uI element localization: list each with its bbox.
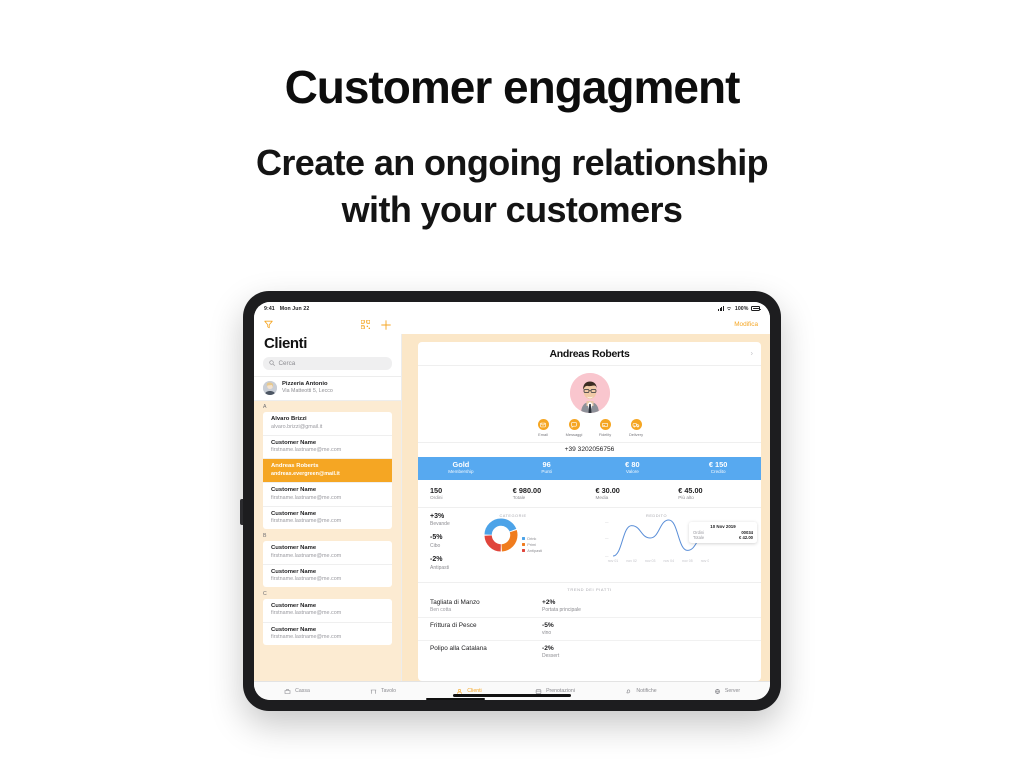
trend-pct: -2% bbox=[542, 645, 749, 653]
list-item[interactable]: Customer Namefirstname.lastname@me.com bbox=[263, 507, 392, 530]
customer-row-name: Customer Name bbox=[271, 545, 384, 553]
delta-cell: -5%Cibo bbox=[430, 534, 470, 549]
delta-label: Bevande bbox=[430, 521, 470, 527]
action-label: Messaggi bbox=[564, 432, 584, 437]
plus-icon[interactable] bbox=[381, 320, 391, 330]
customer-row-name: Customer Name bbox=[271, 603, 384, 611]
customer-group: Alvaro Brizzialvaro.brizzi@gmail.itCusto… bbox=[263, 412, 392, 529]
active-tab-underline bbox=[426, 698, 485, 700]
customer-card: Andreas Roberts › bbox=[418, 342, 761, 681]
tooltip-total-row: Totale € 42.00 bbox=[693, 535, 753, 540]
tab-server[interactable]: Server bbox=[684, 688, 770, 695]
customer-group: Customer Namefirstname.lastname@me.comCu… bbox=[263, 541, 392, 587]
customer-stats-row: 150Ordini€ 980.00Totale€ 30.00Media€ 45.… bbox=[418, 480, 761, 508]
customer-row-email: firstname.lastname@me.com bbox=[271, 610, 384, 617]
pinned-venue-name: Pizzeria Antonio bbox=[282, 381, 333, 388]
stat-label: Totale bbox=[513, 495, 596, 501]
search-icon bbox=[269, 360, 275, 366]
categories-donut-chart: CATEGORIE DrinkPrimiAntipasti bbox=[470, 513, 556, 578]
action-email[interactable]: Email bbox=[533, 419, 553, 437]
customer-group: Customer Namefirstname.lastname@me.comCu… bbox=[263, 599, 392, 645]
filter-icon[interactable] bbox=[264, 320, 273, 329]
sidebar-title: Clienti bbox=[254, 334, 401, 357]
trend-dish-name: Frittura di Pesce bbox=[430, 622, 542, 630]
membership-cell: 96Punti bbox=[504, 461, 590, 475]
customer-sidebar: Clienti Cerca Pizzeria Antonio bbox=[254, 334, 402, 681]
customer-row-name: Customer Name bbox=[271, 511, 384, 519]
customer-row-email: firstname.lastname@me.com bbox=[271, 495, 384, 502]
ipad-device-frame: 9:41 Mon Jun 22 100% bbox=[243, 291, 781, 711]
status-time: 9:41 bbox=[264, 306, 275, 312]
donut-legend: DrinkPrimiAntipasti bbox=[522, 535, 542, 553]
tooltip-total-label: Totale bbox=[693, 535, 704, 540]
list-item[interactable]: Customer Namefirstname.lastname@me.com bbox=[263, 565, 392, 588]
x-tick: nov 01 bbox=[608, 559, 619, 563]
membership-cell: € 150Credito bbox=[675, 461, 761, 475]
tab-notifiche[interactable]: Notifiche bbox=[598, 688, 684, 695]
legend-swatch bbox=[522, 549, 525, 552]
customer-row-email: firstname.lastname@me.com bbox=[271, 553, 384, 560]
list-item[interactable]: Customer Namefirstname.lastname@me.com bbox=[263, 623, 392, 646]
x-tick: nov 06 bbox=[701, 559, 709, 563]
customer-avatar bbox=[570, 373, 610, 413]
analytics-zone: +3%Bevande-5%Cibo-2%Antipasti CATEGORIE … bbox=[418, 508, 761, 582]
dish-trend-section: TREND DEI PIATTI Tagliata di ManzoBen co… bbox=[418, 582, 761, 681]
cash-register-icon bbox=[284, 688, 291, 695]
customer-actions: EmailMessaggiFidelityDelivery bbox=[418, 419, 761, 437]
customer-row-name: Customer Name bbox=[271, 627, 384, 635]
stat-label: Ordini bbox=[430, 495, 513, 501]
app-toolbar: Modifica bbox=[254, 315, 770, 334]
delta-value: -5% bbox=[430, 534, 470, 543]
status-bar: 9:41 Mon Jun 22 100% bbox=[254, 302, 770, 315]
trend-pct: +2% bbox=[542, 599, 749, 607]
trend-course: vino bbox=[542, 630, 749, 636]
stat-cell: € 980.00Totale bbox=[513, 486, 596, 501]
customer-detail-panel: Andreas Roberts › bbox=[402, 334, 770, 681]
tab-tavolo[interactable]: Tavolo bbox=[340, 688, 426, 695]
trend-metric: +2%Portata principale bbox=[542, 599, 749, 613]
trend-dish: Polipo alla Catalana bbox=[430, 645, 542, 659]
action-messaggi[interactable]: Messaggi bbox=[564, 419, 584, 437]
qr-code-icon[interactable] bbox=[361, 320, 370, 329]
pinned-venue-address: Via Matteotti 5, Lecco bbox=[282, 388, 333, 395]
donut-svg bbox=[484, 518, 518, 552]
stat-label: Media bbox=[596, 495, 679, 501]
search-placeholder: Cerca bbox=[279, 360, 296, 367]
bell-icon bbox=[625, 688, 632, 695]
status-bar-left: 9:41 Mon Jun 22 bbox=[264, 306, 309, 312]
search-input[interactable]: Cerca bbox=[263, 357, 392, 370]
table-icon bbox=[370, 688, 377, 695]
membership-bar: GoldMembership96Punti€ 80Valore€ 150Cred… bbox=[418, 457, 761, 480]
trend-pct: -5% bbox=[542, 622, 749, 630]
marketing-headings: Customer engagment Create an ongoing rel… bbox=[0, 0, 1024, 234]
globe-icon bbox=[714, 688, 721, 695]
action-delivery[interactable]: Delivery bbox=[626, 419, 646, 437]
tab-label: Cassa bbox=[295, 688, 310, 694]
delta-cell: -2%Antipasti bbox=[430, 556, 470, 571]
stat-cell: € 30.00Media bbox=[596, 486, 679, 501]
customer-row-name: Customer Name bbox=[271, 440, 384, 448]
customer-row-email: firstname.lastname@me.com bbox=[271, 518, 384, 525]
customer-row-email: firstname.lastname@me.com bbox=[271, 634, 384, 641]
list-item[interactable]: Customer Namefirstname.lastname@me.com bbox=[263, 436, 392, 460]
trend-dish-note: Ben cotta bbox=[430, 607, 542, 613]
battery-icon bbox=[751, 306, 760, 310]
section-letter: B bbox=[254, 529, 401, 541]
stat-value: € 30.00 bbox=[596, 486, 679, 495]
trend-dish: Frittura di Pesce bbox=[430, 622, 542, 636]
customer-row-email: alvaro.brizzi@gmail.it bbox=[271, 424, 384, 431]
x-tick: nov 04 bbox=[664, 559, 675, 563]
y-tick: — bbox=[605, 536, 609, 540]
customer-row-email: firstname.lastname@me.com bbox=[271, 576, 384, 583]
tab-label: Tavolo bbox=[381, 688, 396, 694]
main-split-view: Clienti Cerca Pizzeria Antonio bbox=[254, 334, 770, 681]
trend-course: Dessert bbox=[542, 653, 749, 659]
subtitle-line-1: Create an ongoing relationship bbox=[0, 139, 1024, 187]
card-icon bbox=[600, 419, 611, 430]
membership-value: Gold bbox=[418, 461, 504, 470]
stat-label: Più alto bbox=[678, 495, 761, 501]
trend-dish: Tagliata di ManzoBen cotta bbox=[430, 599, 542, 613]
home-indicator bbox=[453, 694, 571, 697]
status-bar-right: 100% bbox=[718, 306, 760, 312]
delta-label: Cibo bbox=[430, 543, 470, 549]
ipad-screen: 9:41 Mon Jun 22 100% bbox=[254, 302, 770, 700]
delta-value: -2% bbox=[430, 556, 470, 565]
stat-value: € 980.00 bbox=[513, 486, 596, 495]
trend-caption: TREND DEI PIATTI bbox=[418, 587, 761, 592]
tooltip-date: 10 Nov 2019 bbox=[693, 524, 753, 529]
legend-label: Drink bbox=[527, 536, 536, 541]
customer-row-email: andreas.evergreen@mail.it bbox=[271, 471, 384, 478]
page-subtitle: Create an ongoing relationship with your… bbox=[0, 139, 1024, 234]
delivery-icon bbox=[631, 419, 642, 430]
list-item[interactable]: Andreas Robertsandreas.evergreen@mail.it bbox=[263, 459, 392, 483]
customer-name: Andreas Roberts bbox=[418, 348, 761, 360]
y-tick: — bbox=[605, 554, 609, 558]
trend-metric: -5%vino bbox=[542, 622, 749, 636]
category-deltas: +3%Bevande-5%Cibo-2%Antipasti bbox=[418, 513, 470, 578]
pinned-venue-row[interactable]: Pizzeria Antonio Via Matteotti 5, Lecco bbox=[254, 376, 401, 401]
toolbar-actions bbox=[361, 320, 391, 330]
section-letter: C bbox=[254, 587, 401, 599]
pinned-venue-text: Pizzeria Antonio Via Matteotti 5, Lecco bbox=[282, 381, 333, 395]
stat-value: 150 bbox=[430, 486, 513, 495]
chart-tooltip: 10 Nov 2019 Ordini 00034 Totale € 42.00 bbox=[689, 522, 757, 543]
stat-cell: 150Ordini bbox=[430, 486, 513, 501]
x-tick: nov 05 bbox=[682, 559, 693, 563]
list-item[interactable]: Customer Namefirstname.lastname@me.com bbox=[263, 541, 392, 565]
section-letter: A bbox=[254, 401, 401, 413]
trend-metric: -2%Dessert bbox=[542, 645, 749, 659]
trend-dish-name: Polipo alla Catalana bbox=[430, 645, 542, 653]
tab-label: Server bbox=[725, 688, 740, 694]
customer-card-header: Andreas Roberts › bbox=[418, 342, 761, 366]
revenue-line-chart: REDDITO ———nov 01nov 02nov 03nov 04nov 0… bbox=[556, 513, 761, 578]
membership-label: Credito bbox=[675, 469, 761, 475]
membership-value: 96 bbox=[504, 461, 590, 470]
customer-row-email: firstname.lastname@me.com bbox=[271, 447, 384, 454]
delta-cell: +3%Bevande bbox=[430, 513, 470, 528]
customer-row-name: Andreas Roberts bbox=[271, 463, 384, 471]
page-title: Customer engagment bbox=[0, 62, 1024, 113]
legend-label: Primi bbox=[527, 542, 536, 547]
customer-row-name: Customer Name bbox=[271, 569, 384, 577]
membership-cell: € 80Valore bbox=[590, 461, 676, 475]
stat-value: € 45.00 bbox=[678, 486, 761, 495]
legend-item: Drink bbox=[522, 536, 542, 541]
legend-item: Antipasti bbox=[522, 548, 542, 553]
legend-label: Antipasti bbox=[527, 548, 542, 553]
list-item[interactable]: Alvaro Brizzialvaro.brizzi@gmail.it bbox=[263, 412, 392, 436]
membership-label: Punti bbox=[504, 469, 590, 475]
membership-value: € 150 bbox=[675, 461, 761, 470]
legend-item: Primi bbox=[522, 542, 542, 547]
customer-phone[interactable]: +39 3202056756 bbox=[418, 442, 761, 457]
membership-label: Membership bbox=[418, 469, 504, 475]
battery-percent: 100% bbox=[735, 306, 749, 312]
stat-cell: € 45.00Più alto bbox=[678, 486, 761, 501]
action-label: Email bbox=[533, 432, 553, 437]
tab-label: Notifiche bbox=[636, 688, 656, 694]
message-icon bbox=[569, 419, 580, 430]
edit-button[interactable]: Modifica bbox=[734, 321, 758, 328]
y-tick: — bbox=[605, 520, 609, 524]
legend-swatch bbox=[522, 543, 525, 546]
tab-cassa[interactable]: Cassa bbox=[254, 688, 340, 695]
email-icon bbox=[538, 419, 549, 430]
trend-dish-name: Tagliata di Manzo bbox=[430, 599, 542, 607]
trend-row[interactable]: Frittura di Pesce-5%vino bbox=[418, 617, 761, 640]
delta-value: +3% bbox=[430, 513, 470, 522]
delta-label: Antipasti bbox=[430, 565, 470, 571]
customer-list[interactable]: AAlvaro Brizzialvaro.brizzi@gmail.itCust… bbox=[254, 401, 401, 682]
cellular-signal-icon bbox=[718, 306, 724, 311]
status-date: Mon Jun 22 bbox=[280, 306, 310, 312]
trend-row[interactable]: Polipo alla Catalana-2%Dessert bbox=[418, 640, 761, 663]
membership-cell: GoldMembership bbox=[418, 461, 504, 475]
legend-swatch bbox=[522, 537, 525, 540]
trend-row[interactable]: Tagliata di ManzoBen cotta+2%Portata pri… bbox=[418, 595, 761, 617]
customer-row-name: Alvaro Brizzi bbox=[271, 416, 384, 424]
membership-label: Valore bbox=[590, 469, 676, 475]
list-item[interactable]: Customer Namefirstname.lastname@me.com bbox=[263, 483, 392, 507]
x-tick: nov 02 bbox=[626, 559, 637, 563]
subtitle-line-2: with your customers bbox=[0, 186, 1024, 234]
chevron-right-icon[interactable]: › bbox=[751, 350, 753, 357]
toolbar-right: Modifica bbox=[401, 321, 770, 328]
action-label: Fidelity bbox=[595, 432, 615, 437]
trend-course: Portata principale bbox=[542, 607, 749, 613]
wifi-icon bbox=[726, 306, 732, 311]
trend-rows: Tagliata di ManzoBen cotta+2%Portata pri… bbox=[418, 595, 761, 663]
tooltip-total-value: € 42.00 bbox=[739, 535, 753, 540]
action-fidelity[interactable]: Fidelity bbox=[595, 419, 615, 437]
toolbar-left bbox=[254, 320, 401, 330]
membership-value: € 80 bbox=[590, 461, 676, 470]
avatar bbox=[263, 381, 277, 395]
customer-row-name: Customer Name bbox=[271, 487, 384, 495]
bottom-tab-bar: CassaTavoloClientiPrenotazioniNotificheS… bbox=[254, 681, 770, 700]
action-label: Delivery bbox=[626, 432, 646, 437]
x-tick: nov 03 bbox=[645, 559, 656, 563]
list-item[interactable]: Customer Namefirstname.lastname@me.com bbox=[263, 599, 392, 623]
